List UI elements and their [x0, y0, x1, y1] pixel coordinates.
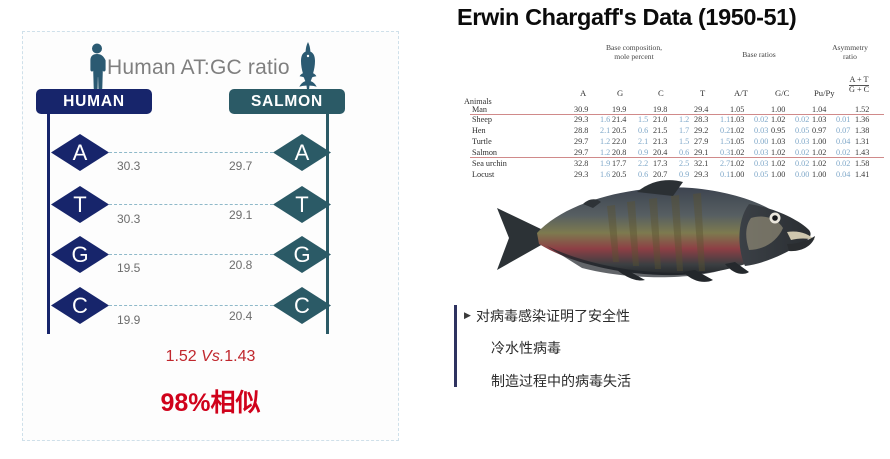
chinese-notes-block: ▶ 对病毒感染证明了安全性 冷水性病毒 制造过程中的病毒失活 — [454, 305, 874, 395]
cell-GC-sd: 0.05 — [795, 126, 809, 135]
cell-AT: 1.02 — [730, 126, 744, 135]
cell-PuPy-sd: 0.01 — [836, 115, 850, 124]
group-header-base-line1: Base composition, — [606, 43, 662, 52]
col-head-GC: G/C — [775, 88, 789, 98]
cell-asymmetry: 1.36 — [855, 115, 869, 124]
cell-G-sd: 1.5 — [638, 115, 648, 124]
asym-denominator: G + C — [849, 85, 869, 95]
cell-A: 29.7 — [574, 137, 588, 146]
cell-C-sd: 2.5 — [679, 159, 689, 168]
cell-PuPy-sd: 0.04 — [836, 137, 850, 146]
salmon-header-bar: SALMON — [229, 89, 345, 114]
cell-C: 21.0 — [653, 115, 667, 124]
cell-asymmetry: 1.41 — [855, 170, 869, 179]
cell-C-sd: 1.5 — [679, 137, 689, 146]
group-header-base-ratios: Base ratios — [714, 51, 804, 60]
cell-AT: 1.03 — [730, 115, 744, 124]
cell-A: 32.8 — [574, 159, 588, 168]
note-line-3: 制造过程中的病毒失活 — [491, 371, 631, 391]
cell-G-sd: 0.6 — [638, 126, 648, 135]
human-silhouette-icon — [85, 43, 109, 91]
cell-AT-sd: 0.02 — [754, 115, 768, 124]
cell-G: 21.4 — [612, 115, 626, 124]
human-base-c: C — [51, 287, 109, 324]
panel-title: Human AT:GC ratio — [107, 56, 290, 80]
cell-AT: 1.02 — [730, 159, 744, 168]
cell-C: 20.4 — [653, 148, 667, 157]
cell-G-sd: 2.2 — [638, 159, 648, 168]
cell-asymmetry: 1.58 — [855, 159, 869, 168]
row-name: Turtle — [472, 137, 492, 146]
cell-T: 32.1 — [694, 159, 708, 168]
cell-T-sd: 1.5 — [720, 137, 730, 146]
cell-PuPy: 0.97 — [812, 126, 826, 135]
cell-GC-sd: 0.02 — [795, 115, 809, 124]
row-name: Salmon — [472, 148, 497, 157]
col-head-A: A — [580, 88, 586, 98]
at-gc-ratio-panel: Human AT:GC ratio HUMAN SALMON A A 30.3 … — [22, 31, 399, 441]
human-axis-line — [47, 112, 50, 334]
cell-AT-sd: 0.03 — [754, 148, 768, 157]
connector-a — [109, 152, 273, 153]
cell-A-sd: 2.1 — [600, 126, 610, 135]
cell-T: 29.4 — [694, 105, 708, 114]
cell-PuPy: 1.02 — [812, 159, 826, 168]
cell-GC: 1.02 — [771, 115, 785, 124]
cell-C: 17.3 — [653, 159, 667, 168]
cell-T: 29.2 — [694, 126, 708, 135]
human-value-c: 19.9 — [117, 313, 140, 327]
salmon-base-t: T — [273, 186, 331, 223]
ratio-comparison: 1.52 Vs.1.43 — [23, 348, 398, 366]
salmon-value-a: 29.7 — [229, 159, 252, 173]
col-head-asymmetry-fraction: A + T G + C — [849, 76, 869, 94]
human-base-t: T — [51, 186, 109, 223]
connector-c — [109, 305, 273, 306]
note-line-1: 对病毒感染证明了安全性 — [476, 306, 630, 326]
cell-T-sd: 0.2 — [720, 126, 730, 135]
cell-AT-sd: 0.00 — [754, 137, 768, 146]
cell-PuPy-sd: 0.02 — [836, 159, 850, 168]
highlight-rule-bottom — [470, 157, 884, 158]
cell-A: 30.9 — [574, 105, 588, 114]
salmon-photo — [487, 178, 817, 296]
col-head-C: C — [658, 88, 664, 98]
cell-PuPy: 1.00 — [812, 137, 826, 146]
cell-PuPy-sd: 0.04 — [836, 170, 850, 179]
cell-AT-sd: 0.03 — [754, 126, 768, 135]
cell-asymmetry: 1.31 — [855, 137, 869, 146]
chargaff-table: Base composition, mole percent Base rati… — [462, 42, 887, 172]
human-value-t: 30.3 — [117, 212, 140, 226]
cell-GC-sd: 0.02 — [795, 159, 809, 168]
table-row: Sea urchin 32.8 1.9 17.7 2.2 17.3 2.5 32… — [462, 159, 887, 169]
connector-g — [109, 254, 273, 255]
salmon-axis-line — [326, 112, 329, 334]
human-base-g: G — [51, 236, 109, 273]
cell-asymmetry: 1.43 — [855, 148, 869, 157]
cell-GC: 0.95 — [771, 126, 785, 135]
cell-G: 20.5 — [612, 126, 626, 135]
row-name: Sheep — [472, 115, 492, 124]
cell-G-sd: 2.1 — [638, 137, 648, 146]
cell-PuPy-sd: 0.02 — [836, 148, 850, 157]
cell-asymmetry: 1.52 — [855, 105, 869, 114]
cell-PuPy: 1.03 — [812, 115, 826, 124]
cell-asymmetry: 1.38 — [855, 126, 869, 135]
ratio-salmon-value: 1.43 — [224, 348, 255, 365]
cell-PuPy: 1.02 — [812, 148, 826, 157]
cell-GC: 1.00 — [771, 105, 785, 114]
asym-numerator: A + T — [849, 76, 869, 85]
cell-G: 19.9 — [612, 105, 626, 114]
cell-C-sd: 0.6 — [679, 148, 689, 157]
cell-PuPy-sd: 0.07 — [836, 126, 850, 135]
table-row: Turtle 29.7 1.2 22.0 2.1 21.3 1.5 27.9 1… — [462, 137, 887, 147]
triangle-bullet-icon: ▶ — [464, 310, 471, 321]
table-row: Hen 28.8 2.1 20.5 0.6 21.5 1.7 29.2 0.2 … — [462, 126, 887, 136]
page-title: Erwin Chargaff's Data (1950-51) — [457, 4, 796, 31]
cell-AT-sd: 0.03 — [754, 159, 768, 168]
table-row: Sheep 29.3 1.6 21.4 1.5 21.0 1.2 28.3 1.… — [462, 115, 887, 125]
row-name: Hen — [472, 126, 486, 135]
cell-PuPy: 1.04 — [812, 105, 826, 114]
salmon-base-a: A — [273, 134, 331, 171]
col-head-PuPy: Pu/Py — [814, 88, 835, 98]
human-header-bar: HUMAN — [36, 89, 152, 114]
cell-G: 17.7 — [612, 159, 626, 168]
connector-t — [109, 204, 273, 205]
cell-T-sd: 1.1 — [720, 115, 730, 124]
col-head-AT: A/T — [734, 88, 748, 98]
salmon-value-g: 20.8 — [229, 258, 252, 272]
cell-G: 22.0 — [612, 137, 626, 146]
human-value-g: 19.5 — [117, 261, 140, 275]
notes-left-rail — [454, 305, 457, 387]
note-line-2: 冷水性病毒 — [491, 338, 561, 358]
cell-C: 21.3 — [653, 137, 667, 146]
slide-canvas: Human AT:GC ratio HUMAN SALMON A A 30.3 … — [0, 0, 890, 459]
cell-C-sd: 1.2 — [679, 115, 689, 124]
cell-C: 19.8 — [653, 105, 667, 114]
cell-GC: 1.02 — [771, 148, 785, 157]
cell-A-sd: 1.2 — [600, 148, 610, 157]
salmon-value-t: 29.1 — [229, 208, 252, 222]
cell-A-sd: 1.6 — [600, 115, 610, 124]
group-header-asym-line1: Asymmetry — [832, 43, 868, 52]
cell-A: 28.8 — [574, 126, 588, 135]
cell-GC-sd: 0.02 — [795, 148, 809, 157]
cell-C-sd: 1.7 — [679, 126, 689, 135]
cell-A: 29.3 — [574, 115, 588, 124]
row-name: Sea urchin — [472, 159, 507, 168]
chargaff-panel: Erwin Chargaff's Data (1950-51) Base com… — [452, 0, 890, 459]
cell-T: 27.9 — [694, 137, 708, 146]
cell-GC-sd: 0.03 — [795, 137, 809, 146]
row-name: Man — [472, 105, 487, 114]
cell-T: 29.1 — [694, 148, 708, 157]
fish-silhouette-icon — [295, 42, 321, 92]
ratio-human-value: 1.52 — [166, 348, 202, 365]
cell-GC: 1.02 — [771, 159, 785, 168]
salmon-base-g: G — [273, 236, 331, 273]
cell-A-sd: 1.9 — [600, 159, 610, 168]
cell-T: 28.3 — [694, 115, 708, 124]
group-header-base-line2: mole percent — [614, 52, 653, 61]
cell-A: 29.7 — [574, 148, 588, 157]
salmon-value-c: 20.4 — [229, 309, 252, 323]
cell-C: 21.5 — [653, 126, 667, 135]
cell-GC: 1.03 — [771, 137, 785, 146]
group-header-asym-line2: ratio — [843, 52, 857, 61]
human-value-a: 30.3 — [117, 159, 140, 173]
group-header-asymmetry: Asymmetry ratio — [817, 44, 883, 61]
similarity-label: 98%相似 — [23, 383, 398, 419]
col-head-T: T — [700, 88, 705, 98]
cell-G-sd: 0.9 — [638, 148, 648, 157]
col-head-G: G — [617, 88, 623, 98]
group-header-base-composition: Base composition, mole percent — [574, 44, 694, 61]
cell-G: 20.8 — [612, 148, 626, 157]
cell-A-sd: 1.2 — [600, 137, 610, 146]
cell-AT: 1.05 — [730, 105, 744, 114]
cell-T-sd: 0.3 — [720, 148, 730, 157]
human-base-a: A — [51, 134, 109, 171]
vs-word: Vs. — [201, 348, 224, 365]
cell-T-sd: 2.7 — [720, 159, 730, 168]
salmon-base-c: C — [273, 287, 331, 324]
cell-AT: 1.05 — [730, 137, 744, 146]
cell-AT: 1.02 — [730, 148, 744, 157]
